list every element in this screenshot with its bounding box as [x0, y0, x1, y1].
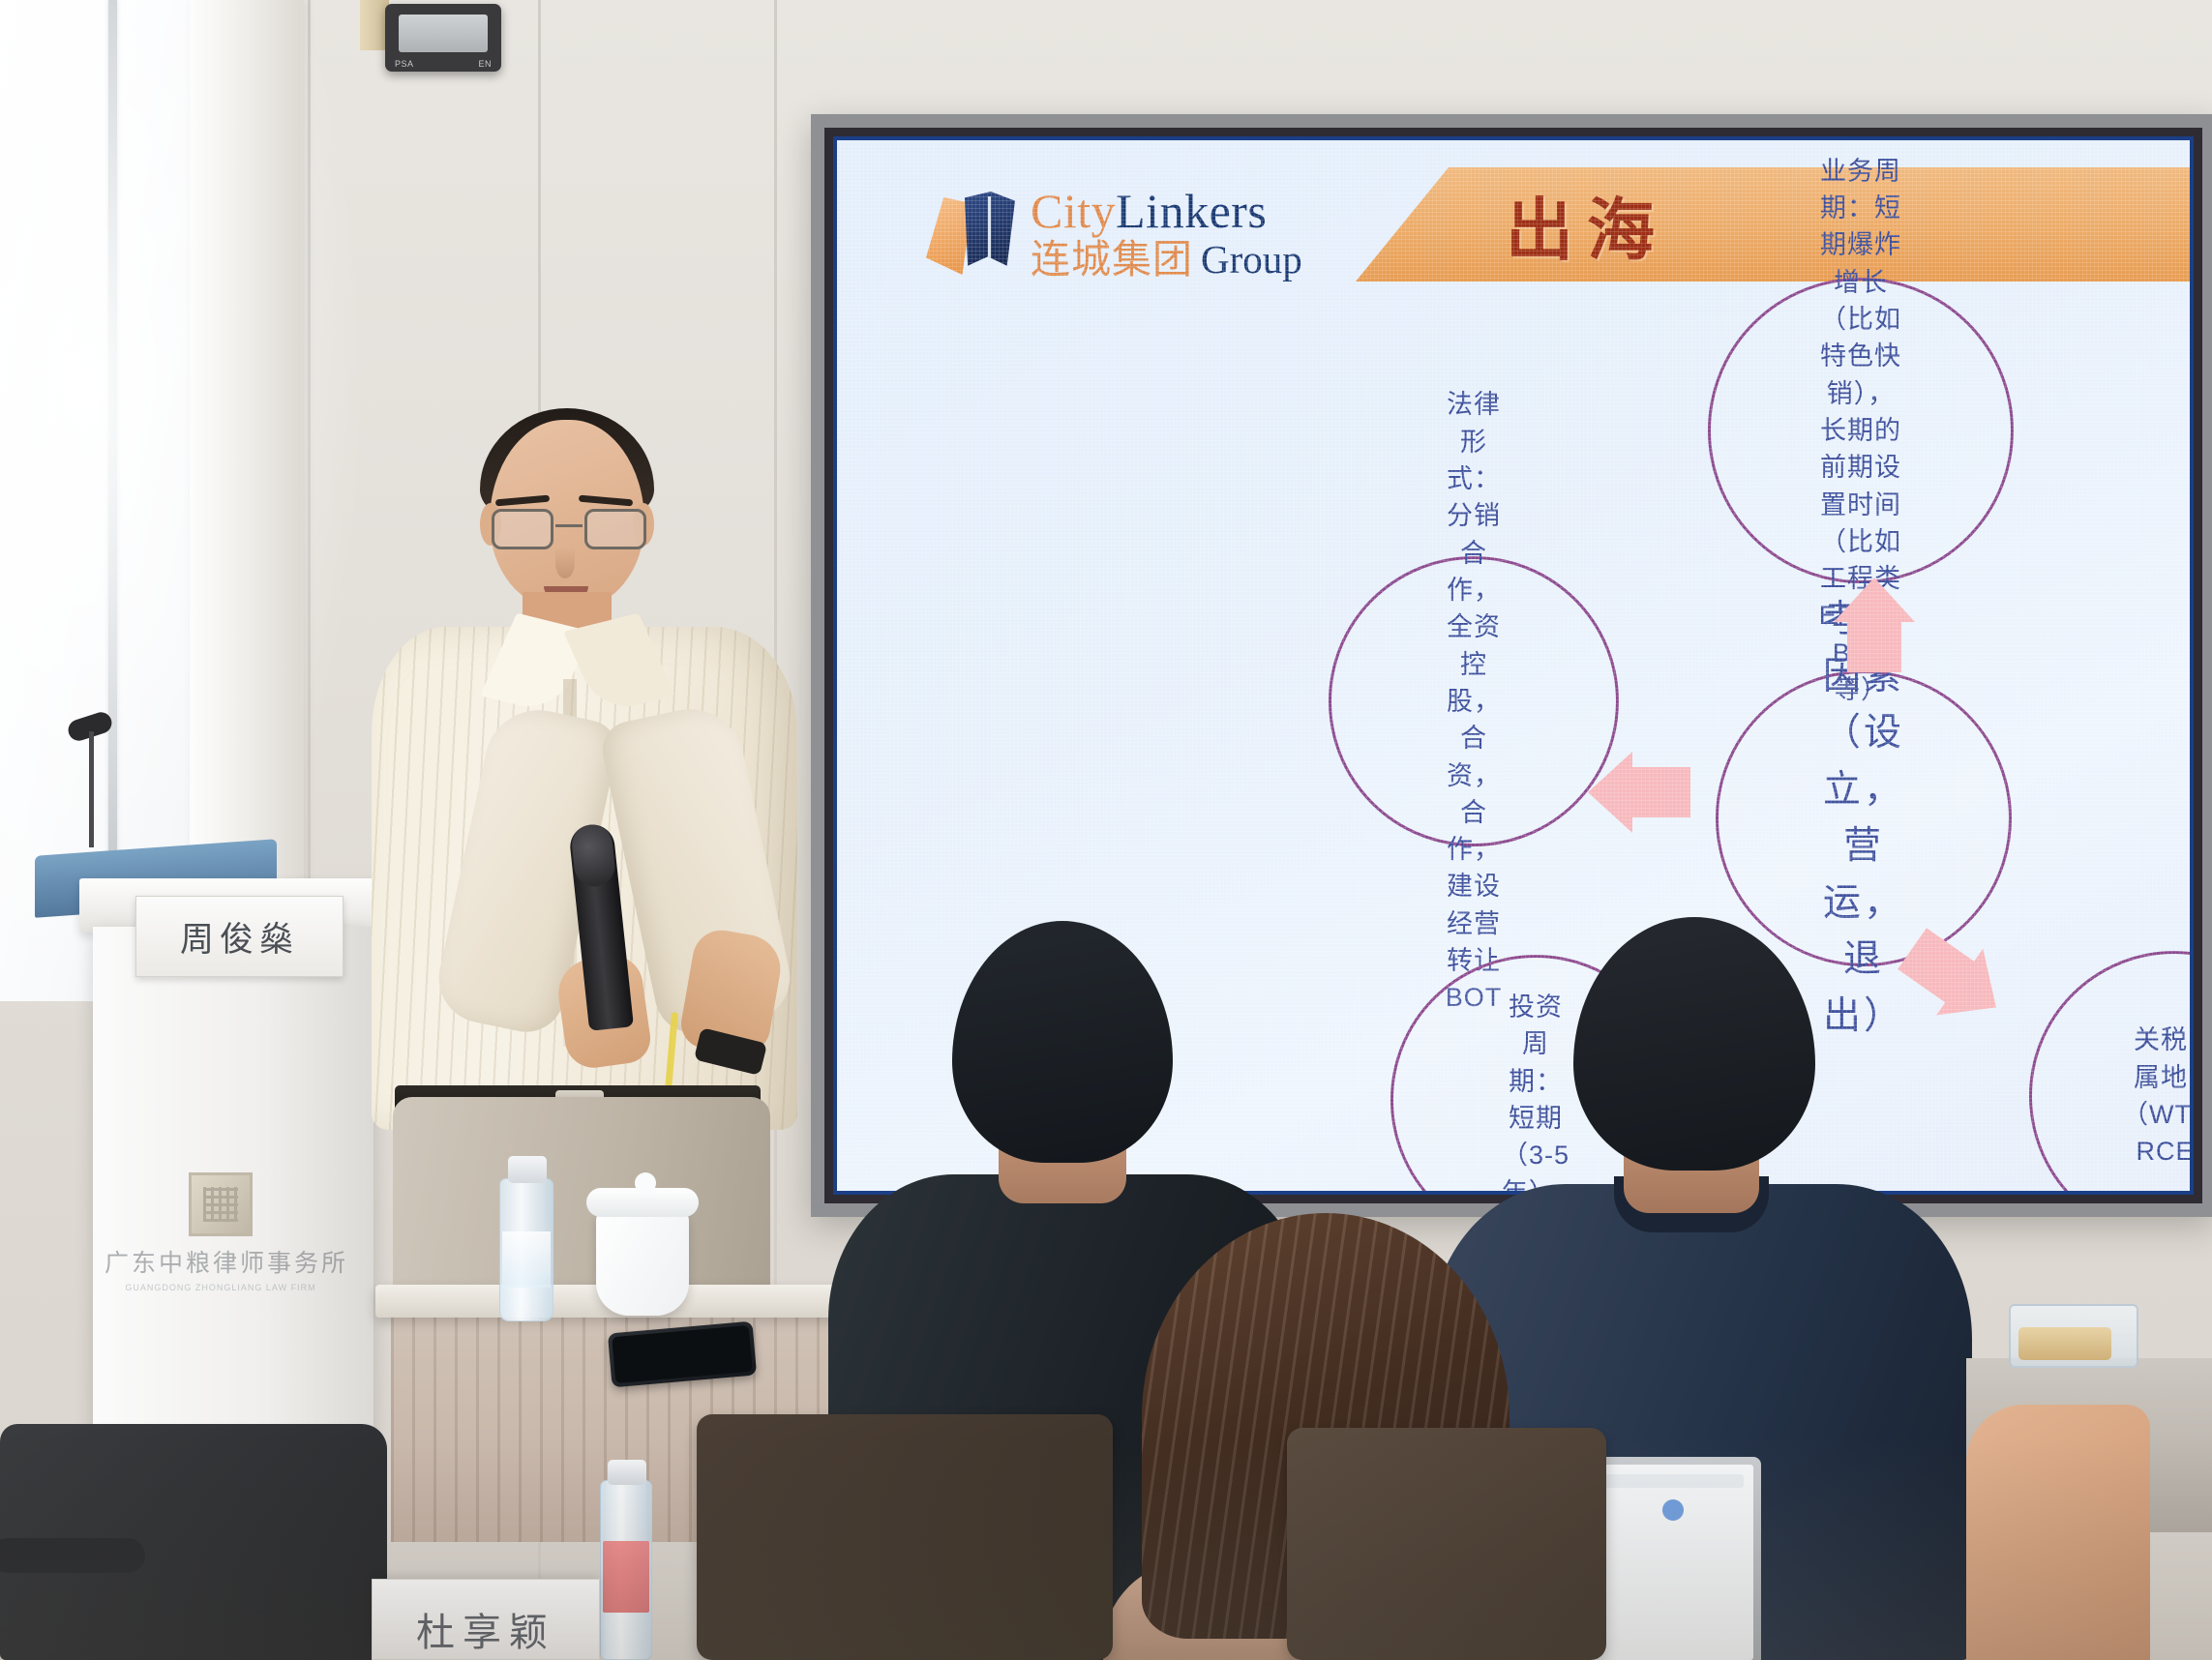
phone-screen — [612, 1325, 753, 1383]
water-bottle — [499, 1178, 553, 1321]
brand-city: City — [1031, 184, 1116, 238]
brand-line-2: 连城集团Group — [1031, 240, 1302, 280]
audience-head — [952, 921, 1173, 1163]
arrow-stem — [1630, 767, 1690, 817]
slide-title-banner: 出海 — [1356, 167, 2190, 282]
mic-grill — [570, 822, 616, 888]
brand-cn: 连城集团 — [1031, 237, 1193, 282]
podium-nameplate: 周俊燊 — [135, 896, 344, 977]
brand-logo: CityLinkers 连城集团Group — [926, 187, 1302, 280]
device-label-right: EN — [478, 59, 492, 69]
glasses-lens-left — [492, 509, 553, 549]
brand-line-1: CityLinkers — [1031, 187, 1302, 235]
brand-wordmark: CityLinkers 连城集团Group — [1031, 187, 1302, 280]
org-name-en: GUANGDONG ZHONGLIANG LAW FIRM — [105, 1283, 337, 1292]
slide-header: CityLinkers 连城集团Group 出海 — [837, 140, 2190, 310]
podium-nameplate-text: 周俊燊 — [180, 912, 299, 962]
brand-group: Group — [1201, 237, 1302, 282]
glasses-bridge — [555, 524, 583, 527]
brand-linkers: Linkers — [1116, 184, 1267, 238]
slide-title: 出海 — [1506, 176, 1668, 274]
device-label-left: PSA — [395, 59, 414, 69]
presenter-glasses-icon — [488, 509, 650, 551]
glasses-lens-right — [584, 509, 646, 549]
diagram-node-legal-form: 法律形式：分销合作，全资控股，合资，合作，建设经营转让BOT — [1329, 556, 1619, 846]
snack-container — [2009, 1304, 2138, 1368]
audience-head — [1573, 917, 1815, 1171]
bottle-cap — [508, 1156, 547, 1183]
conference-room-scene: PSA EN CityLinkers — [0, 0, 2212, 1660]
bottle-label — [502, 1231, 551, 1288]
org-seal-icon — [189, 1172, 253, 1236]
presenter — [372, 420, 797, 1339]
citylinkers-book-logo-icon — [926, 192, 1015, 275]
org-name-cn: 广东中粮律师事务所 — [105, 1244, 337, 1279]
presenter-nose — [555, 548, 575, 578]
podium-org-logo: 广东中粮律师事务所 GUANGDONG ZHONGLIANG LAW FIRM — [105, 1172, 337, 1292]
teacup-knob — [635, 1172, 656, 1194]
diagram-node-business-cycle: 业务周期：短期爆炸增长（比如特色快销），长期的前期设置时间（比如工程类EPC、B… — [1708, 278, 2014, 583]
device-face — [399, 15, 488, 52]
arrow-head — [1588, 752, 1632, 833]
microphone-stand — [68, 716, 118, 753]
mic-pole — [89, 731, 94, 847]
ceiling-speaker-device: PSA EN — [385, 4, 501, 72]
lidded-teacup — [596, 1207, 689, 1316]
snack-contents — [2018, 1327, 2111, 1360]
floor-shadow — [0, 1438, 2212, 1660]
logo-page-right — [965, 192, 1015, 269]
diagram-node-tariff: 关税，属地，（WTO，RCEP — [2029, 951, 2190, 1191]
arrow-head — [1834, 578, 1915, 622]
arrow-stem — [1847, 616, 1901, 672]
